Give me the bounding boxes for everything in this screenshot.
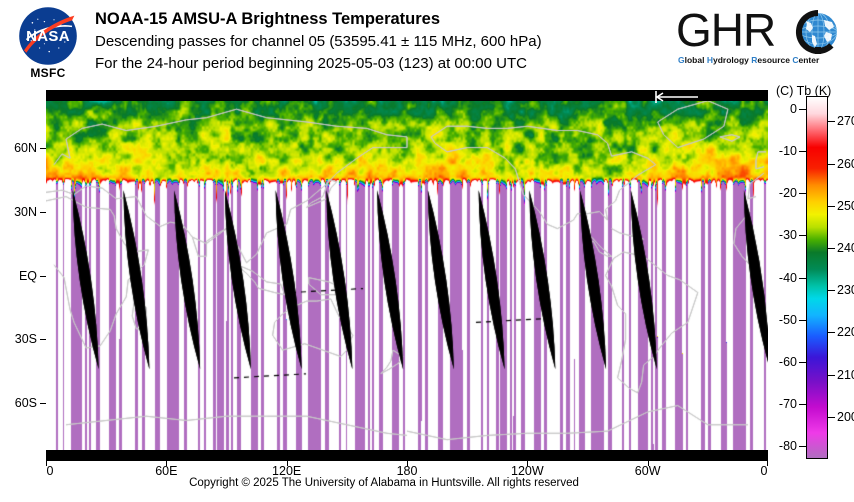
latitude-tick-label: 30N [14,205,37,219]
svg-text:GHR: GHR [676,8,775,55]
colorbar-kelvin-tick [828,206,835,207]
longitude-tick-mark [407,461,408,466]
colorbar-kelvin-tick [828,290,835,291]
colorbar-celsius-ticks: 0-10-20-30-40-50-60-70-80 [770,96,806,459]
nasa-logo: NASA MSFC [10,6,86,82]
latitude-tick-mark [40,212,46,213]
colorbar-celsius-label: -60 [779,355,797,369]
colorbar-kelvin-tick [828,164,835,165]
descending-node-arrow-icon [654,91,700,103]
longitude-tick-label: 0 [761,464,768,478]
map-bottom-nodata-band [46,450,768,461]
colorbar-kelvin-label: 250 [837,199,854,213]
colorbar-gradient [807,97,827,458]
colorbar-celsius-label: 0 [790,102,797,116]
copyright-text: Copyright © 2025 The University of Alaba… [0,477,768,489]
longitude-tick-label: 180 [397,464,418,478]
colorbar [806,96,828,459]
colorbar-kelvin-tick [828,248,835,249]
colorbar-kelvin-label: 270 [837,114,854,128]
colorbar-celsius-label: -30 [779,228,797,242]
latitude-tick-mark [40,403,46,404]
colorbar-celsius-label: -50 [779,313,797,327]
colorbar-kelvin-label: 210 [837,368,854,382]
colorbar-celsius-label: -40 [779,271,797,285]
longitude-tick-label: 120E [272,464,301,478]
colorbar-kelvin-label: 220 [837,325,854,339]
nasa-meatball-icon: NASA [18,6,78,66]
longitude-tick-mark [648,461,649,466]
longitude-tick-mark [527,461,528,466]
colorbar-kelvin-tick [828,121,835,122]
nasa-center-label: MSFC [10,66,86,80]
colorbar-kelvin-label: 260 [837,157,854,171]
colorbar-celsius-label: -80 [779,439,797,453]
latitude-tick-label: 30S [15,332,37,346]
colorbar-celsius-tick [799,320,806,321]
longitude-tick-label: 60W [635,464,661,478]
colorbar-celsius-tick [799,151,806,152]
period-subtitle: For the 24-hour period beginning 2025-05… [95,53,542,75]
page-title: NOAA-15 AMSU-A Brightness Temperatures [95,8,542,31]
title-block: NOAA-15 AMSU-A Brightness Temperatures D… [95,8,542,75]
map-panel[interactable] [46,90,768,461]
colorbar-celsius-label: -10 [779,144,797,158]
channel-subtitle: Descending passes for channel 05 (53595.… [95,31,542,53]
colorbar-kelvin-tick [828,332,835,333]
colorbar-celsius-tick [799,446,806,447]
colorbar-celsius-tick [799,193,806,194]
colorbar-celsius-label: -70 [779,397,797,411]
ghrc-wordmark-icon: GHR [676,8,846,55]
longitude-tick-mark [767,461,768,466]
colorbar-kelvin-label: 200 [837,410,854,424]
colorbar-celsius-tick [799,235,806,236]
colorbar-kelvin-label: 240 [837,241,854,255]
longitude-tick-label: 60E [155,464,177,478]
colorbar-kelvin-tick [828,417,835,418]
latitude-axis: 60N30NEQ30S60S [0,90,46,461]
latitude-tick-mark [40,339,46,340]
colorbar-celsius-tick [799,109,806,110]
brightness-temperature-map[interactable] [46,90,768,461]
colorbar-kelvin-ticks: 270260250240230220210200 [828,96,854,459]
longitude-tick-mark [46,461,47,466]
colorbar-celsius-tick [799,278,806,279]
longitude-tick-mark [287,461,288,466]
colorbar-kelvin-label: 230 [837,283,854,297]
svg-text:NASA: NASA [26,28,70,45]
latitude-tick-mark [40,276,46,277]
colorbar-kelvin-tick [828,375,835,376]
latitude-tick-label: EQ [19,269,37,283]
ghrc-tagline: Global Hydrology Resource Center [678,53,844,67]
latitude-tick-label: 60N [14,141,37,155]
latitude-tick-label: 60S [15,396,37,410]
longitude-tick-label: 0 [47,464,54,478]
longitude-tick-mark [166,461,167,466]
colorbar-celsius-tick [799,362,806,363]
latitude-tick-mark [40,148,46,149]
colorbar-celsius-label: -20 [779,186,797,200]
ghrc-logo: GHR Global Hydrology Resource Center [676,8,846,74]
colorbar-celsius-tick [799,404,806,405]
longitude-tick-label: 120W [511,464,544,478]
